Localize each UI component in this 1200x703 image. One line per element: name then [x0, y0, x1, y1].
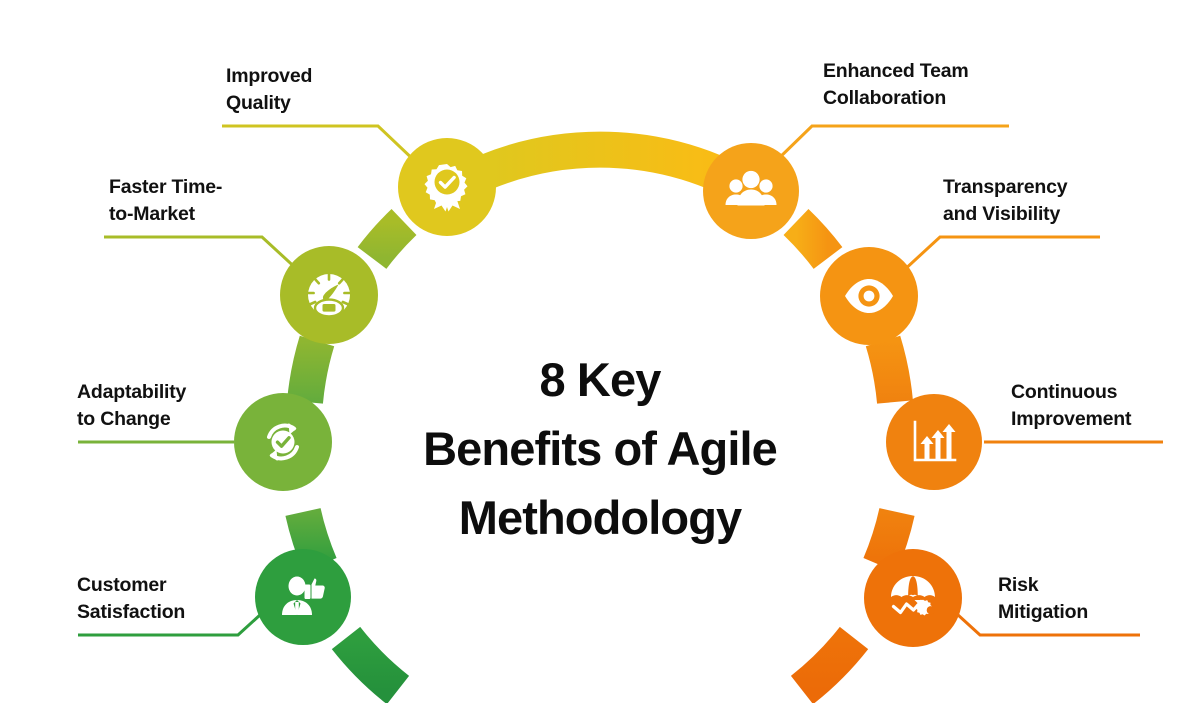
- label-faster-time-to-market: Faster Time- to-Market: [109, 174, 309, 228]
- node-enhanced-team-collaboration[interactable]: [703, 143, 799, 239]
- leader-line-transparency-and-visibility: [902, 237, 1100, 272]
- agile-benefits-infographic: Improved Quality Faster Time- to-Market …: [0, 0, 1200, 703]
- label-improved-quality: Improved Quality: [226, 63, 426, 117]
- label-adaptability-to-change: Adaptability to Change: [77, 379, 277, 433]
- leader-line-faster-time-to-market: [104, 237, 300, 272]
- node-transparency-and-visibility[interactable]: [820, 247, 918, 345]
- speedometer-icon: [302, 268, 356, 322]
- node-continuous-improvement[interactable]: [886, 394, 982, 490]
- label-customer-satisfaction: Customer Satisfaction: [77, 572, 277, 626]
- label-continuous-improvement: Continuous Improvement: [1011, 379, 1200, 433]
- people-group-icon: [724, 164, 778, 218]
- label-enhanced-team-collaboration: Enhanced Team Collaboration: [823, 58, 1053, 112]
- label-risk-mitigation: Risk Mitigation: [998, 572, 1198, 626]
- umbrella-gear-icon: [885, 570, 941, 626]
- node-improved-quality[interactable]: [398, 138, 496, 236]
- person-thumbs-up-icon: [276, 570, 330, 624]
- growth-bar-chart-icon: [907, 415, 961, 469]
- label-transparency-and-visibility: Transparency and Visibility: [943, 174, 1163, 228]
- award-badge-icon: [421, 161, 473, 213]
- node-faster-time-to-market[interactable]: [280, 246, 378, 344]
- page-title: 8 Key Benefits of Agile Methodology: [330, 345, 870, 552]
- leader-line-improved-quality: [222, 126, 418, 164]
- leader-line-enhanced-team-collaboration: [774, 126, 1009, 163]
- node-risk-mitigation[interactable]: [864, 549, 962, 647]
- eye-icon: [841, 268, 897, 324]
